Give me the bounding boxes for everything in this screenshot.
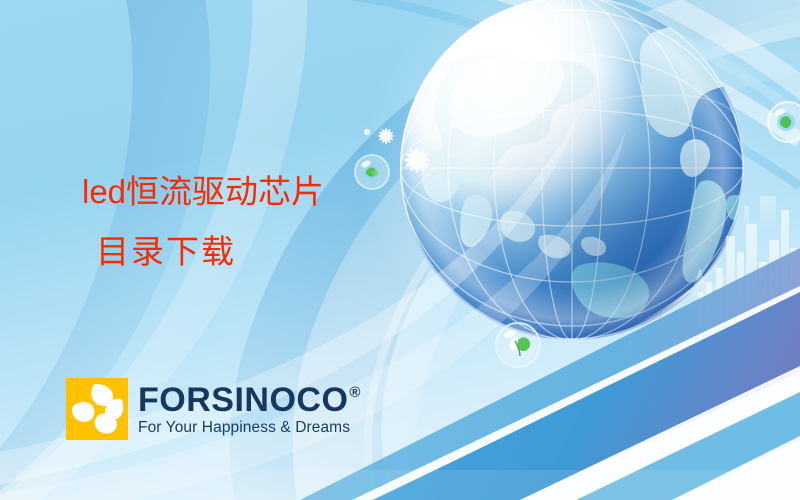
sparkle-dot-icon [364, 129, 370, 135]
brand-tagline: For Your Happiness & Dreams [138, 420, 361, 436]
logo-wordmark: FORSINOCO® For Your Happiness & Dreams [138, 383, 361, 436]
headline-line-1: led恒流驱动芯片 [82, 162, 324, 222]
banner-canvas: led恒流驱动芯片 目录下载 FORSINOCO® For Your Happi… [0, 0, 800, 500]
logo-mark-icon [66, 378, 128, 440]
headline-text: led恒流驱动芯片 目录下载 [82, 162, 324, 282]
four-petal-pinwheel-icon [72, 384, 123, 434]
company-logo: FORSINOCO® For Your Happiness & Dreams [66, 378, 361, 440]
bubble-leaf-icon [496, 323, 540, 367]
registered-mark: ® [349, 385, 361, 400]
headline-line-2: 目录下载 [82, 222, 324, 282]
brand-name-row: FORSINOCO® [138, 383, 361, 417]
bubble-globe-icon [355, 155, 389, 189]
brand-name: FORSINOCO [138, 383, 348, 417]
bubble-globe-icon [768, 102, 800, 142]
